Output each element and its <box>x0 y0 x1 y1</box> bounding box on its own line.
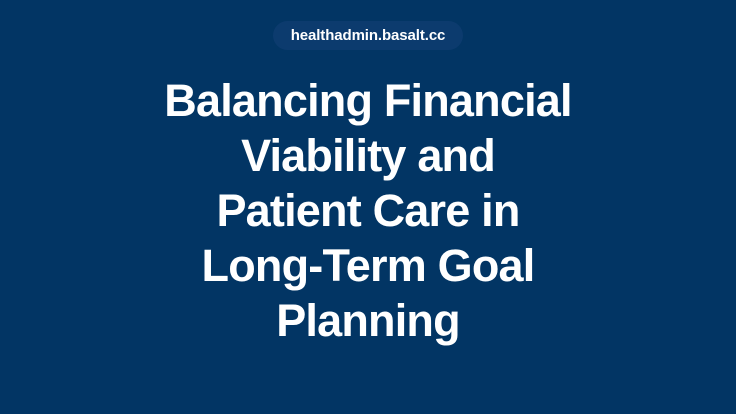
title-line-1: Balancing Financial <box>58 73 678 128</box>
title-slide: healthadmin.basalt.cc Balancing Financia… <box>0 0 736 414</box>
title-line-2: Viability and <box>58 128 678 183</box>
page-title: Balancing Financial Viability and Patien… <box>58 73 678 348</box>
url-pill[interactable]: healthadmin.basalt.cc <box>273 21 464 50</box>
url-pill-domain: healthadmin.basalt.cc <box>291 27 446 44</box>
title-line-3: Patient Care in <box>58 183 678 238</box>
title-line-5: Planning <box>58 293 678 348</box>
title-line-4: Long-Term Goal <box>58 238 678 293</box>
